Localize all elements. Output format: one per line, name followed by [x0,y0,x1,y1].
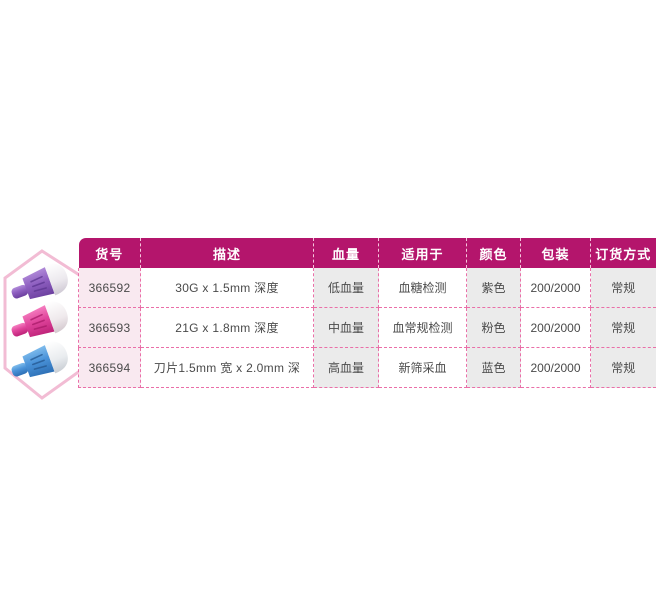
cell-color: 粉色 [467,308,521,348]
table-row: 366594 刀片1.5mm 宽 x 2.0mm 深 高血量 新筛采血 蓝色 2… [79,348,656,388]
column-header-use: 适用于 [379,238,467,268]
cell-application: 血糖检测 [379,268,467,308]
cell-order-method: 常规 [591,268,656,308]
lancet-blue-icon [6,340,84,380]
cell-desc: 30G x 1.5mm 深度 [141,268,314,308]
cell-packaging: 200/2000 [521,308,591,348]
lancet-purple-icon [6,262,84,302]
cell-desc: 21G x 1.8mm 深度 [141,308,314,348]
cell-sku: 366594 [79,348,141,388]
column-header-clr: 颜色 [467,238,521,268]
cell-order-method: 常规 [591,348,656,388]
table-row: 366592 30G x 1.5mm 深度 低血量 血糖检测 紫色 200/20… [79,268,656,308]
cell-desc: 刀片1.5mm 宽 x 2.0mm 深 [141,348,314,388]
cell-color: 蓝色 [467,348,521,388]
table-header-row: 货号 描述 血量 适用于 颜色 包装 订货方式 [79,238,656,268]
cell-sku: 366592 [79,268,141,308]
cell-sku: 366593 [79,308,141,348]
cell-color: 紫色 [467,268,521,308]
column-header-pack: 包装 [521,238,591,268]
column-header-sku: 货号 [79,238,141,268]
column-header-ord: 订货方式 [591,238,656,268]
cell-packaging: 200/2000 [521,348,591,388]
cell-order-method: 常规 [591,308,656,348]
lancet-pink-icon [6,300,84,340]
cell-blood-volume: 高血量 [314,348,379,388]
table-row: 366593 21G x 1.8mm 深度 中血量 血常规检测 粉色 200/2… [79,308,656,348]
cell-blood-volume: 低血量 [314,268,379,308]
specification-table: 货号 描述 血量 适用于 颜色 包装 订货方式 366592 30G x 1.5… [78,238,656,388]
cell-application: 血常规检测 [379,308,467,348]
cell-blood-volume: 中血量 [314,308,379,348]
cell-packaging: 200/2000 [521,268,591,308]
cell-application: 新筛采血 [379,348,467,388]
column-header-vol: 血量 [314,238,379,268]
column-header-desc: 描述 [141,238,314,268]
